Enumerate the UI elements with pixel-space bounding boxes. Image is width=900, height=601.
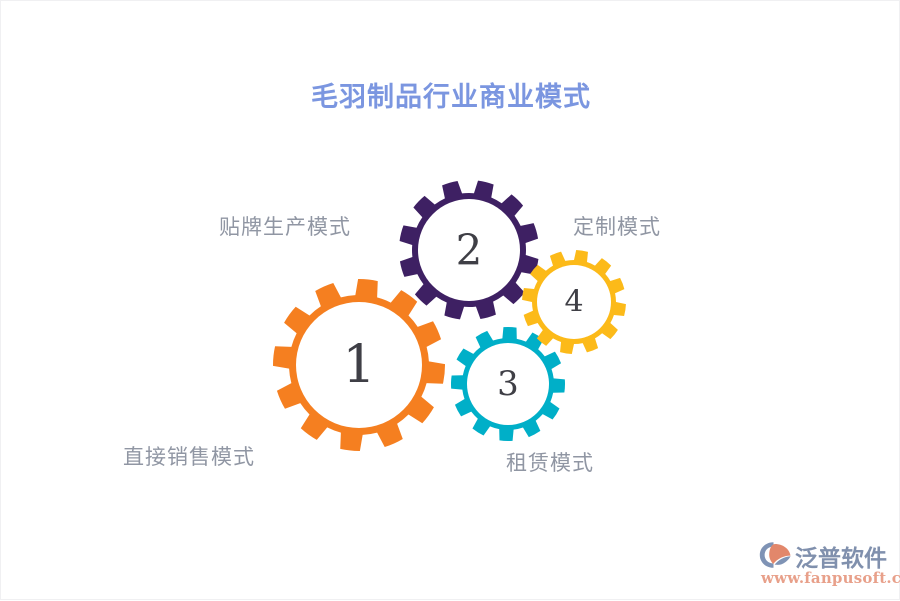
gear-1[interactable]: 1 [273,279,445,451]
brand-logo[interactable]: 泛普软件 www.fanpusoft.com [759,539,891,589]
gear-4[interactable]: 4 [522,250,626,354]
fanpu-logo-icon [759,541,793,569]
logo-website-url: www.fanpusoft.com [761,569,900,587]
gear-label-leasing: 租赁模式 [506,447,594,477]
gear-number: 1 [342,335,375,395]
infographic-page: 毛羽制品行业商业模式 1 2 3 4 直接销售模式 贴牌生产模式 租赁模式 定制… [0,0,900,600]
gear-2[interactable]: 2 [400,181,539,320]
logo-company-name: 泛普软件 [795,539,887,573]
gear-label-oem-production: 贴牌生产模式 [219,211,351,241]
gear-label-customization: 定制模式 [573,211,661,241]
gear-diagram: 1 2 3 4 直接销售模式 贴牌生产模式 租赁模式 定制模式 [1,1,900,601]
gear-label-direct-sales: 直接销售模式 [123,441,255,471]
gear-number: 3 [497,364,519,404]
gear-diagram-svg: 1 2 3 4 [1,1,900,601]
gear-number: 4 [564,285,583,320]
gear-number: 2 [456,226,483,275]
gear-3[interactable]: 3 [451,327,565,441]
